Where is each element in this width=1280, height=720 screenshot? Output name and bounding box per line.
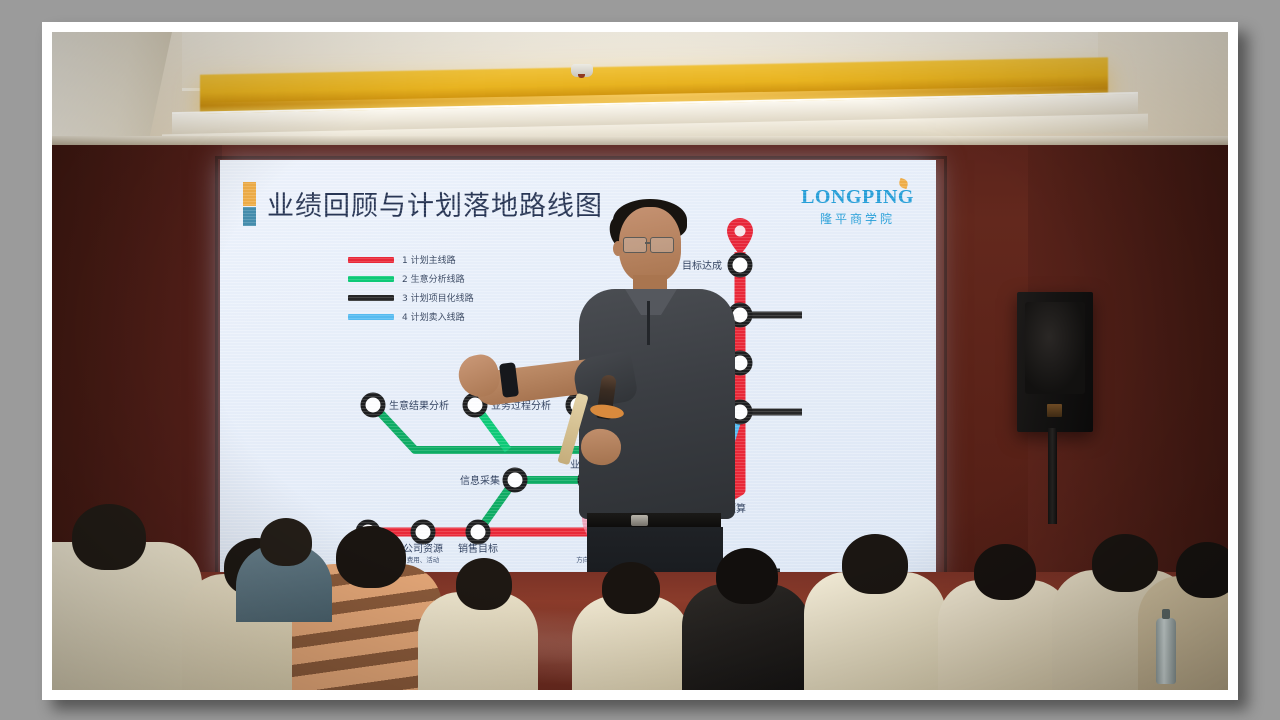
- room-scene: 业绩回顾与计划落地路线图 LONGPING 隆平商学院 1 计划主线路: [52, 32, 1228, 690]
- wall-trim: [52, 136, 1228, 145]
- smoke-detector-icon: [571, 64, 593, 77]
- glasses-lens-left: [623, 237, 647, 253]
- presenter-ear: [613, 241, 623, 256]
- loudspeaker: [1017, 292, 1093, 432]
- audience: [52, 472, 1228, 690]
- audience-head: [602, 562, 660, 614]
- glasses-lens-right: [650, 237, 674, 253]
- audience-head: [1092, 534, 1158, 592]
- water-bottle: [1156, 618, 1176, 684]
- label-result-analysis: 生意结果分析: [389, 399, 449, 412]
- audience-head: [842, 534, 908, 594]
- audience-head: [260, 518, 312, 566]
- audience-head: [72, 504, 146, 570]
- photograph: 业绩回顾与计划落地路线图 LONGPING 隆平商学院 1 计划主线路: [52, 32, 1228, 690]
- speaker-badge: [1047, 404, 1062, 417]
- audience-head: [974, 544, 1036, 600]
- audience-head: [716, 548, 778, 604]
- presenter-placket: [647, 301, 650, 345]
- glasses-icon: [623, 237, 677, 252]
- glasses-bridge: [645, 242, 651, 244]
- photo-canvas: 业绩回顾与计划落地路线图 LONGPING 隆平商学院 1 计划主线路: [0, 0, 1280, 720]
- station-result-analysis: [363, 395, 383, 415]
- audience-head: [336, 526, 406, 588]
- audience-head: [456, 558, 512, 610]
- audience-head: [1176, 542, 1228, 598]
